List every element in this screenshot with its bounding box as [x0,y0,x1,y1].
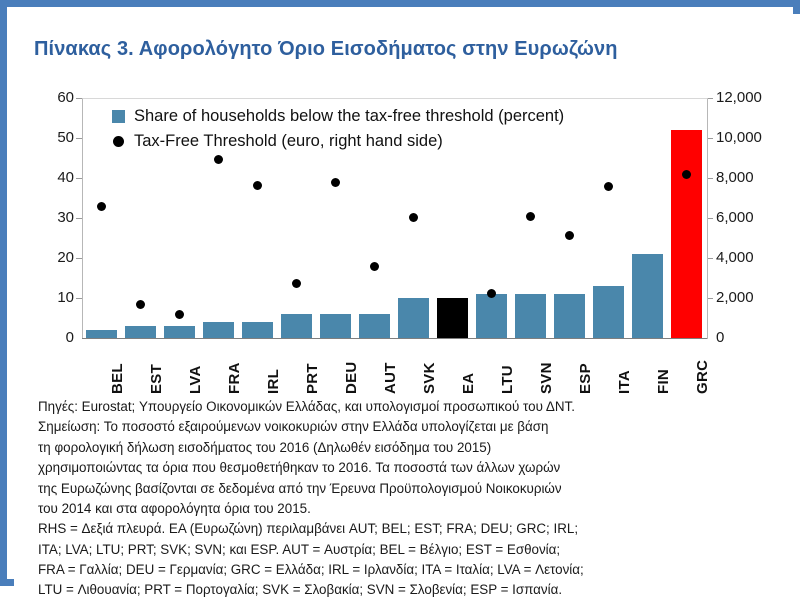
left-axis-tick-label: 30 [30,210,74,225]
category-label-grc: GRC [694,360,711,394]
dot-ita [604,182,613,191]
footnote-line: Πηγές: Eurostat; Υπουργείο Οικονομικών Ε… [38,397,794,417]
category-label-irl: IRL [265,369,282,394]
dot-est [136,300,145,309]
category-label-prt: PRT [304,363,321,394]
dot-lva [175,310,184,319]
left-axis-tick-label: 60 [30,90,74,105]
right-axis-tick-label: 4,000 [716,250,794,265]
left-axis-tick-label: 0 [30,330,74,345]
right-axis-tick-label: 2,000 [716,290,794,305]
category-label-aut: AUT [382,362,399,394]
footnote-line: χρησιμοποιώντας τα όρια που θεσμοθετήθηκ… [38,458,794,478]
footnote-line: RHS = Δεξιά πλευρά. ΕΑ (Ευρωζώνη) περιλα… [38,519,794,539]
legend-item-dots: Tax-Free Threshold (euro, right hand sid… [112,129,564,154]
dot-grc [682,170,691,179]
dot-ltu [487,289,496,298]
category-label-deu: DEU [343,361,360,394]
footnote-line: του 2014 και στα αφορολόγητα όρια του 20… [38,499,794,519]
dot-esp [565,231,574,240]
left-axis-tick-label: 50 [30,130,74,145]
dot-prt [292,279,301,288]
chart-legend: Share of households below the tax-free t… [112,104,564,154]
category-label-fin: FIN [655,369,672,394]
category-label-ita: ITA [616,370,633,394]
category-label-ea: EA [460,373,477,394]
footnote-line: της Ευρωζώνης βασίζονται σε δεδομένα από… [38,479,794,499]
legend-dot-icon [113,136,124,147]
category-label-est: EST [148,364,165,394]
legend-item-bars: Share of households below the tax-free t… [112,104,564,129]
dot-svn [526,212,535,221]
dot-fra [214,155,223,164]
dot-bel [97,202,106,211]
footnote-line: Σημείωση: Το ποσοστό εξαιρούμενων νοικοκ… [38,417,794,437]
footnote-line: τη φορολογική δήλωση εισοδήματος του 201… [38,438,794,458]
right-axis-tick-label: 0 [716,330,794,345]
footnotes: Πηγές: Eurostat; Υπουργείο Οικονομικών Ε… [38,397,794,601]
figure-inner: Πίνακας 3. Αφορολόγητο Όριο Εισοδήματος … [14,14,800,586]
page-title: Πίνακας 3. Αφορολόγητο Όριο Εισοδήματος … [34,38,618,61]
left-axis-tick-label: 20 [30,250,74,265]
category-label-esp: ESP [577,363,594,394]
left-axis-tick-label: 40 [30,170,74,185]
right-axis-tick-label: 8,000 [716,170,794,185]
category-label-fra: FRA [226,362,243,394]
legend-label-bars: Share of households below the tax-free t… [134,107,564,126]
dot-svk [409,213,418,222]
right-axis-tick-label: 10,000 [716,130,794,145]
legend-swatch-icon [112,110,125,123]
legend-label-dots: Tax-Free Threshold (euro, right hand sid… [134,132,443,151]
category-label-svn: SVN [538,362,555,394]
category-label-lva: LVA [187,365,204,394]
axis-baseline [82,338,707,339]
dot-deu [331,178,340,187]
dot-aut [370,262,379,271]
category-label-ltu: LTU [499,365,516,394]
figure-frame: Πίνακας 3. Αφορολόγητο Όριο Εισοδήματος … [0,0,800,586]
footnote-line: LTU = Λιθουανία; PRT = Πορτογαλία; SVK =… [38,580,794,600]
category-axis: BELESTLVAFRAIRLPRTDEUAUTSVKEALTUSVNESPIT… [82,342,706,398]
right-axis-tick-label: 12,000 [716,90,794,105]
left-axis-tick-label: 10 [30,290,74,305]
footnote-line: ITA; LVA; LTU; PRT; SVK; SVN; και ESP. A… [38,540,794,560]
dot-irl [253,181,262,190]
right-axis-tick-label: 6,000 [716,210,794,225]
category-label-svk: SVK [421,362,438,394]
footnote-line: FRA = Γαλλία; DEU = Γερμανία; GRC = Ελλά… [38,560,794,580]
category-label-bel: BEL [109,363,126,394]
